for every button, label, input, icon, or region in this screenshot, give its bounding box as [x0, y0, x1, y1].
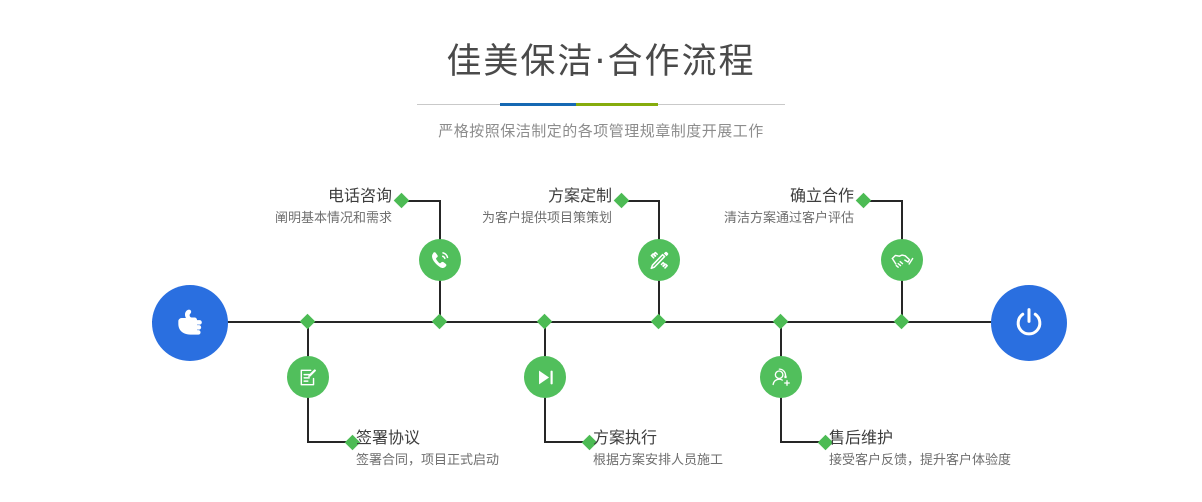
step-4-icon-badge	[524, 356, 566, 398]
page-title: 佳美保洁·合作流程	[0, 42, 1202, 82]
step-5-desc: 清洁方案通过客户评估	[620, 210, 854, 228]
step-3-icon-badge	[638, 239, 680, 281]
timeline-start-badge	[152, 285, 228, 361]
power-icon	[1009, 303, 1049, 343]
phone-call-icon	[428, 248, 452, 272]
step-2-diamond-spine-marker	[300, 314, 316, 330]
step-1-title: 电话咨询	[150, 186, 392, 206]
step-3-desc: 为客户提供项目策策划	[380, 210, 612, 228]
step-6-desc: 接受客户反馈，提升客户体验度	[829, 452, 1109, 470]
step-4-label: 方案执行 根据方案安排人员施工	[593, 428, 853, 470]
step-2-desc: 签署合同，项目正式启动	[356, 452, 616, 470]
step-5-title: 确立合作	[620, 186, 854, 206]
step-1-label: 电话咨询 阐明基本情况和需求	[150, 186, 392, 228]
step-3-label: 方案定制 为客户提供项目策策划	[380, 186, 612, 228]
step-1-desc: 阐明基本情况和需求	[150, 210, 392, 228]
step-3-diamond-spine-marker	[651, 314, 667, 330]
step-1-icon-badge	[419, 239, 461, 281]
header: 佳美保洁·合作流程 严格按照保洁制定的各项管理规章制度开展工作	[0, 0, 1202, 141]
step-2-icon-badge	[287, 356, 329, 398]
timeline-end-badge	[991, 285, 1067, 361]
divider-blue-segment	[500, 103, 576, 106]
step-6-title: 售后维护	[829, 428, 1109, 448]
title-divider	[417, 100, 785, 110]
step-2-title: 签署协议	[356, 428, 616, 448]
step-4-title: 方案执行	[593, 428, 853, 448]
step-6-icon-badge	[760, 356, 802, 398]
step-3-title: 方案定制	[380, 186, 612, 206]
pointing-hand-icon	[170, 303, 210, 343]
step-5-icon-badge	[881, 239, 923, 281]
step-5-diamond-spine-marker	[894, 314, 910, 330]
step-5-diamond-label-marker	[856, 193, 872, 209]
step-6-diamond-spine-marker	[773, 314, 789, 330]
pencil-edit-icon	[647, 248, 672, 273]
contract-sign-icon	[297, 366, 320, 389]
support-agent-add-icon	[769, 365, 793, 389]
page-subtitle: 严格按照保洁制定的各项管理规章制度开展工作	[0, 120, 1202, 141]
step-2-label: 签署协议 签署合同，项目正式启动	[356, 428, 616, 470]
step-4-diamond-spine-marker	[537, 314, 553, 330]
timeline-spine	[152, 321, 1050, 323]
step-5-label: 确立合作 清洁方案通过客户评估	[620, 186, 854, 228]
play-next-icon	[534, 366, 557, 389]
step-6-label: 售后维护 接受客户反馈，提升客户体验度	[829, 428, 1109, 470]
process-flow-infographic: 佳美保洁·合作流程 严格按照保洁制定的各项管理规章制度开展工作	[0, 0, 1202, 502]
step-1-diamond-spine-marker	[432, 314, 448, 330]
step-4-desc: 根据方案安排人员施工	[593, 452, 853, 470]
handshake-icon	[890, 248, 915, 273]
divider-green-segment	[576, 103, 658, 106]
